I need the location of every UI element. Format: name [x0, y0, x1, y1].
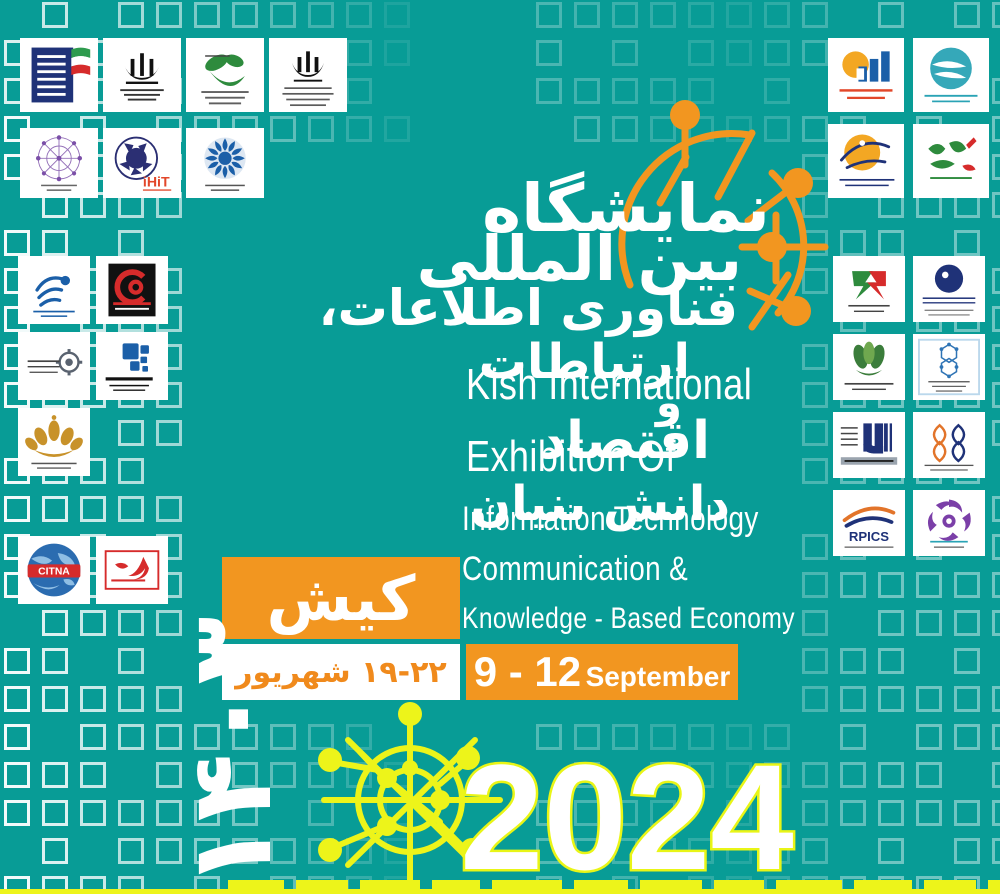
band-date-en: 9 - 12 September — [466, 644, 738, 700]
svg-text:CITNA: CITNA — [38, 567, 70, 578]
logo-acta-operators-association — [913, 490, 985, 556]
poster-canvas: iHiT CITNA — [0, 0, 1000, 894]
logo-afta-industry-association — [833, 412, 905, 478]
logo-ministry-of-industry-mine-trade — [103, 38, 181, 112]
title-en-line2: Exhibition Of — [466, 432, 676, 482]
svg-text:RPICS: RPICS — [849, 529, 889, 544]
logo-ihit-house-of-innovation: iHiT — [103, 128, 181, 198]
logo-iran-chamber-of-commerce — [833, 256, 905, 322]
date-en-label: 9 - 12 September — [466, 648, 738, 696]
title-fa-line3: فناوری اطلاعات، — [319, 285, 738, 333]
title-en-line4: Communication & — [462, 550, 688, 589]
date-en-range: 9 - 12 — [474, 648, 581, 695]
year-gregorian: 2024 — [460, 742, 794, 892]
logo-kish-investment-development-company — [828, 38, 904, 112]
logo-computer-guild-association — [96, 256, 168, 324]
logo-vp-science-technology — [269, 38, 347, 112]
logo-consulting-engineers-society — [913, 256, 985, 322]
logo-innovation-prosperity-fund — [186, 38, 264, 112]
logo-digital-economy-society — [913, 412, 985, 478]
year-persian: ۱۴۰۳ — [176, 617, 288, 890]
logo-kish-exhibition-company — [913, 124, 989, 198]
logo-shoma-magazine — [96, 536, 168, 604]
logo-kish-free-zone-organization — [913, 38, 989, 112]
logo-iran-electrical-industry-syndicate — [18, 332, 90, 400]
logo-citna-news-agency: CITNA — [18, 536, 90, 604]
logo-digital-economy-development — [20, 128, 98, 198]
logo-ministry-of-ict — [20, 38, 98, 112]
logo-kish-research-center — [828, 124, 904, 198]
title-en-line1: Kish International — [466, 360, 752, 410]
logo-national-informatics-organization — [833, 334, 905, 400]
bottom-dash-strip — [0, 872, 1000, 894]
logo-e-commerce-association — [18, 408, 90, 476]
logo-afta-center — [96, 332, 168, 400]
logo-knowledge-based-companies-association — [913, 334, 985, 400]
logo-ict-guild-organization — [186, 128, 264, 198]
logo-rpics: RPICS — [833, 490, 905, 556]
title-en-line5: Knowledge - Based Economy — [462, 602, 795, 636]
date-en-month: September — [586, 661, 731, 692]
title-en-line3: Information Technology — [462, 500, 759, 539]
svg-text:iHiT: iHiT — [143, 174, 170, 190]
logo-telecommunication-company-of-iran — [18, 256, 90, 324]
